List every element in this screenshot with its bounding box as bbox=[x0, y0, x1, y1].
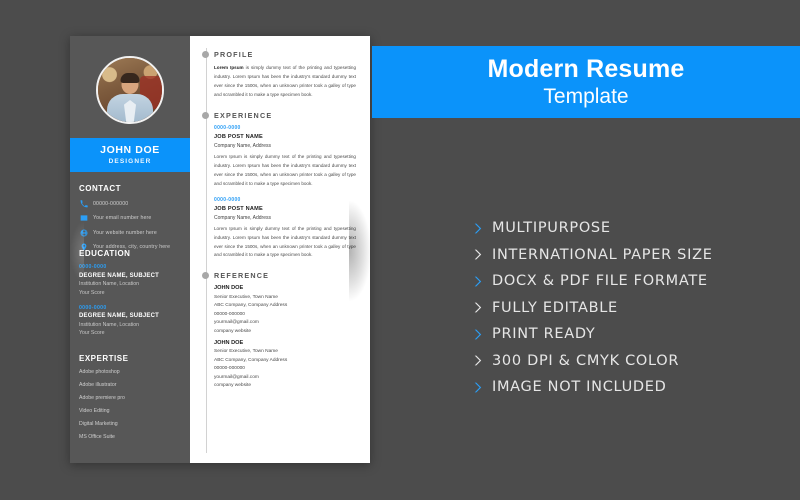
arrow-right-icon bbox=[472, 222, 492, 235]
experience-company: Company Name, Address bbox=[214, 215, 356, 221]
education-date: 0000-0000 bbox=[79, 264, 181, 270]
website-icon bbox=[79, 228, 88, 237]
contact-row-website: Your website number here bbox=[79, 228, 181, 237]
education-entry: 0000-0000 DEGREE NAME, SUBJECT Instituti… bbox=[79, 305, 181, 337]
email-icon bbox=[79, 214, 88, 223]
education-score: Your Score bbox=[79, 330, 181, 336]
reference-website: company website bbox=[214, 383, 356, 388]
expertise-item: Adobe photoshop bbox=[79, 369, 181, 375]
reference-name: JOHN DOE bbox=[214, 285, 356, 291]
reference-phone: 00000-000000 bbox=[214, 312, 356, 317]
arrow-right-icon bbox=[472, 301, 492, 314]
arrow-right-icon bbox=[472, 328, 492, 341]
candidate-name: JOHN DOE bbox=[70, 144, 190, 156]
timeline-line bbox=[206, 48, 207, 453]
experience-title: JOB POST NAME bbox=[214, 206, 356, 212]
resume-page-preview: JOHN DOE DESIGNER CONTACT 00000-000000 Y… bbox=[70, 36, 370, 463]
profile-photo bbox=[96, 56, 164, 124]
contact-section: CONTACT 00000-000000 Your email number h… bbox=[79, 184, 181, 257]
reference-name: JOHN DOE bbox=[214, 340, 356, 346]
education-institution: Institution Name, Location bbox=[79, 281, 181, 287]
reference-position: Senior Executive, Town Name bbox=[214, 295, 356, 300]
reference-section: REFERENCE JOHN DOE Senior Executive, Tow… bbox=[214, 271, 356, 388]
reference-position: Senior Executive, Town Name bbox=[214, 349, 356, 354]
arrow-right-icon bbox=[472, 381, 492, 394]
experience-title: JOB POST NAME bbox=[214, 134, 356, 140]
expertise-heading: EXPERTISE bbox=[79, 354, 181, 363]
resume-sidebar: JOHN DOE DESIGNER CONTACT 00000-000000 Y… bbox=[70, 36, 190, 463]
promo-title-banner: Modern Resume Template bbox=[372, 46, 800, 118]
feature-item: DOCX & PDF FILE FORMATE bbox=[472, 273, 792, 289]
reference-email: yourmail@gmail.com bbox=[214, 320, 356, 325]
experience-company: Company Name, Address bbox=[214, 143, 356, 149]
timeline-dot bbox=[202, 112, 209, 119]
phone-icon bbox=[79, 199, 88, 208]
timeline-dot bbox=[202, 51, 209, 58]
arrow-right-icon bbox=[472, 275, 492, 288]
education-entry: 0000-0000 DEGREE NAME, SUBJECT Instituti… bbox=[79, 264, 181, 296]
reference-phone: 00000-000000 bbox=[214, 366, 356, 371]
profile-paragraph: Lorem Ipsum is simply dummy text of the … bbox=[214, 64, 356, 100]
contact-row-email: Your email number here bbox=[79, 214, 181, 223]
feature-item: IMAGE NOT INCLUDED bbox=[472, 379, 792, 395]
experience-date: 0000-0000 bbox=[214, 125, 356, 131]
feature-label: DOCX & PDF FILE FORMATE bbox=[492, 273, 708, 289]
reference-heading: REFERENCE bbox=[214, 271, 356, 280]
reference-website: company website bbox=[214, 329, 356, 334]
expertise-item: Adobe illustrator bbox=[79, 382, 181, 388]
name-banner: JOHN DOE DESIGNER bbox=[70, 138, 190, 172]
feature-item: PRINT READY bbox=[472, 326, 792, 342]
timeline-dot bbox=[202, 272, 209, 279]
experience-heading: EXPERIENCE bbox=[214, 111, 356, 120]
profile-lead: Lorem Ipsum bbox=[214, 65, 244, 70]
education-date: 0000-0000 bbox=[79, 305, 181, 311]
promo-title-main: Modern Resume bbox=[372, 55, 800, 84]
experience-entry: 0000-0000 JOB POST NAME Company Name, Ad… bbox=[214, 125, 356, 189]
feature-item: FULLY EDITABLE bbox=[472, 300, 792, 316]
education-degree: DEGREE NAME, SUBJECT bbox=[79, 273, 181, 279]
feature-label: PRINT READY bbox=[492, 326, 596, 342]
expertise-item: Digital Marketing bbox=[79, 421, 181, 427]
experience-description: Lorem Ipsum is simply dummy text of the … bbox=[214, 225, 356, 261]
contact-phone-text: 00000-000000 bbox=[93, 201, 128, 207]
feature-label: INTERNATIONAL PAPER SIZE bbox=[492, 247, 713, 263]
experience-description: Lorem Ipsum is simply dummy text of the … bbox=[214, 153, 356, 189]
contact-email-text: Your email number here bbox=[93, 215, 151, 221]
feature-list: MULTIPURPOSE INTERNATIONAL PAPER SIZE DO… bbox=[472, 220, 792, 406]
feature-item: 300 DPI & CMYK COLOR bbox=[472, 353, 792, 369]
contact-row-phone: 00000-000000 bbox=[79, 199, 181, 208]
reference-entry: JOHN DOE Senior Executive, Town Name ABC… bbox=[214, 285, 356, 334]
profile-section: PROFILE Lorem Ipsum is simply dummy text… bbox=[214, 50, 356, 100]
arrow-right-icon bbox=[472, 354, 492, 367]
experience-section: EXPERIENCE 0000-0000 JOB POST NAME Compa… bbox=[214, 111, 356, 261]
reference-entry: JOHN DOE Senior Executive, Town Name ABC… bbox=[214, 340, 356, 389]
candidate-role: DESIGNER bbox=[70, 158, 190, 165]
expertise-item: MS Office Suite bbox=[79, 434, 181, 440]
feature-item: MULTIPURPOSE bbox=[472, 220, 792, 236]
feature-label: FULLY EDITABLE bbox=[492, 300, 618, 316]
feature-item: INTERNATIONAL PAPER SIZE bbox=[472, 247, 792, 263]
arrow-right-icon bbox=[472, 248, 492, 261]
education-heading: EDUCATION bbox=[79, 249, 181, 258]
expertise-section: EXPERTISE Adobe photoshop Adobe illustra… bbox=[79, 354, 181, 447]
feature-label: 300 DPI & CMYK COLOR bbox=[492, 353, 679, 369]
reference-company: ABC Company, Company Address bbox=[214, 358, 356, 363]
promo-title-sub: Template bbox=[372, 85, 800, 109]
profile-heading: PROFILE bbox=[214, 50, 356, 59]
education-score: Your Score bbox=[79, 290, 181, 296]
feature-label: MULTIPURPOSE bbox=[492, 220, 611, 236]
photo-person-hair bbox=[121, 73, 140, 83]
expertise-item: Video Editing bbox=[79, 408, 181, 414]
resume-main-column: PROFILE Lorem Ipsum is simply dummy text… bbox=[190, 36, 370, 463]
reference-company: ABC Company, Company Address bbox=[214, 303, 356, 308]
contact-website-text: Your website number here bbox=[93, 230, 157, 236]
feature-label: IMAGE NOT INCLUDED bbox=[492, 379, 667, 395]
experience-entry: 0000-0000 JOB POST NAME Company Name, Ad… bbox=[214, 197, 356, 261]
reference-email: yourmail@gmail.com bbox=[214, 375, 356, 380]
experience-date: 0000-0000 bbox=[214, 197, 356, 203]
expertise-item: Adobe premiere pro bbox=[79, 395, 181, 401]
education-institution: Institution Name, Location bbox=[79, 322, 181, 328]
education-degree: DEGREE NAME, SUBJECT bbox=[79, 313, 181, 319]
contact-heading: CONTACT bbox=[79, 184, 181, 193]
education-section: EDUCATION 0000-0000 DEGREE NAME, SUBJECT… bbox=[79, 249, 181, 345]
